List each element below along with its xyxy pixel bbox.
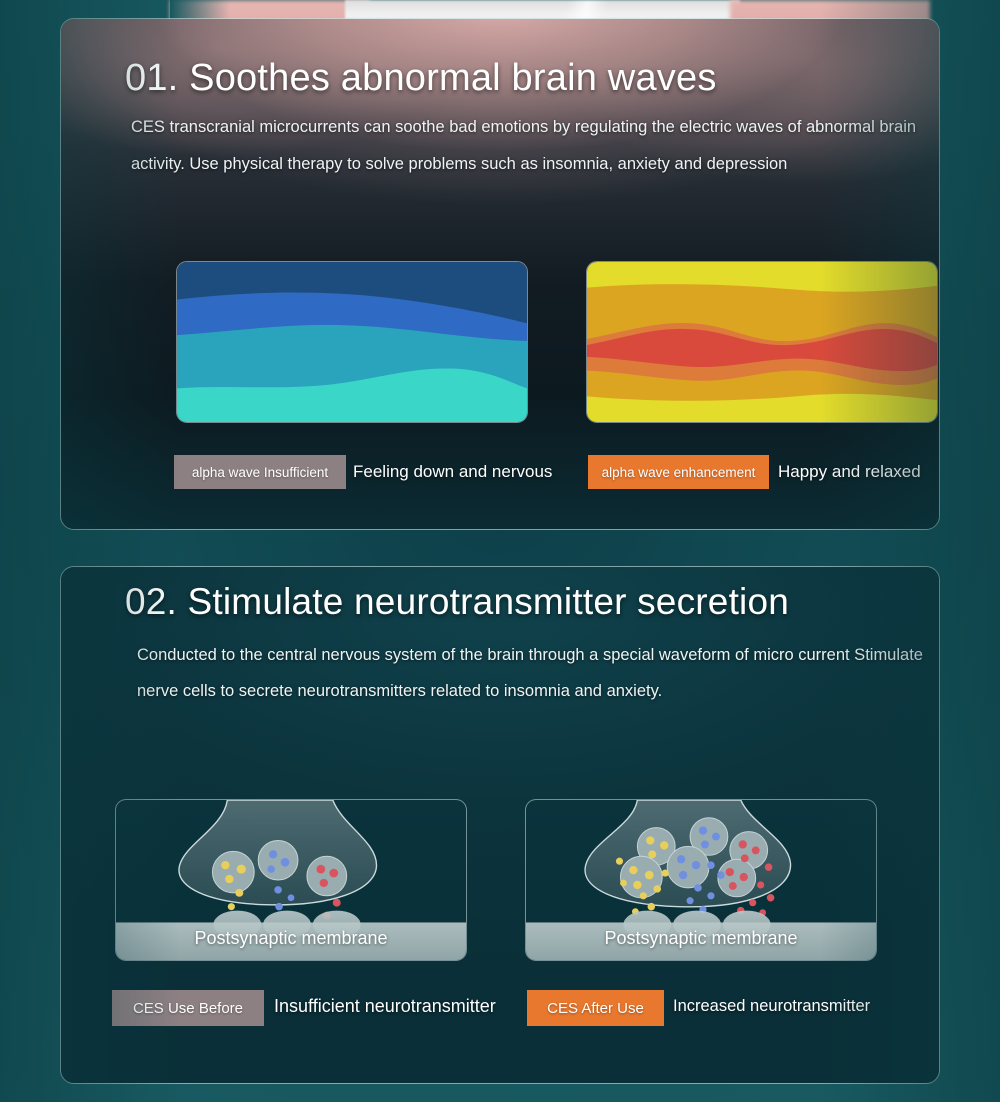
warm-wave-graphic <box>587 262 937 422</box>
caption-happy-relaxed: Happy and relaxed <box>778 462 921 482</box>
section-02-body: Conducted to the central nervous system … <box>137 637 940 709</box>
caption-insufficient-neurotransmitter: Insufficient neurotransmitter <box>274 996 496 1017</box>
section-card-01: 01. Soothes abnormal brain waves CES tra… <box>60 18 940 530</box>
synapse-after-panel: Postsynaptic membrane <box>525 799 877 961</box>
badge-alpha-insufficient[interactable]: alpha wave Insufficient <box>174 455 346 489</box>
synapse-before-graphic <box>116 800 466 960</box>
cool-wave-graphic <box>177 262 527 422</box>
badge-ces-use-before[interactable]: CES Use Before <box>112 990 264 1026</box>
synapse-before-panel: Postsynaptic membrane <box>115 799 467 961</box>
badge-ces-after-use[interactable]: CES After Use <box>527 990 664 1026</box>
synapse-after-graphic <box>526 800 876 960</box>
caption-feeling-down: Feeling down and nervous <box>353 462 552 482</box>
section-02-title: 02. Stimulate neurotransmitter secretion <box>125 581 939 623</box>
warm-wave-panel <box>586 261 938 423</box>
page-background: 01. Soothes abnormal brain waves CES tra… <box>0 0 1000 1102</box>
cool-wave-panel <box>176 261 528 423</box>
caption-increased-neurotransmitter: Increased neurotransmitter <box>673 997 870 1016</box>
badge-alpha-enhancement[interactable]: alpha wave enhancement <box>588 455 769 489</box>
section-01-title: 01. Soothes abnormal brain waves <box>125 57 939 100</box>
section-01-body: CES transcranial microcurrents can sooth… <box>131 109 940 183</box>
